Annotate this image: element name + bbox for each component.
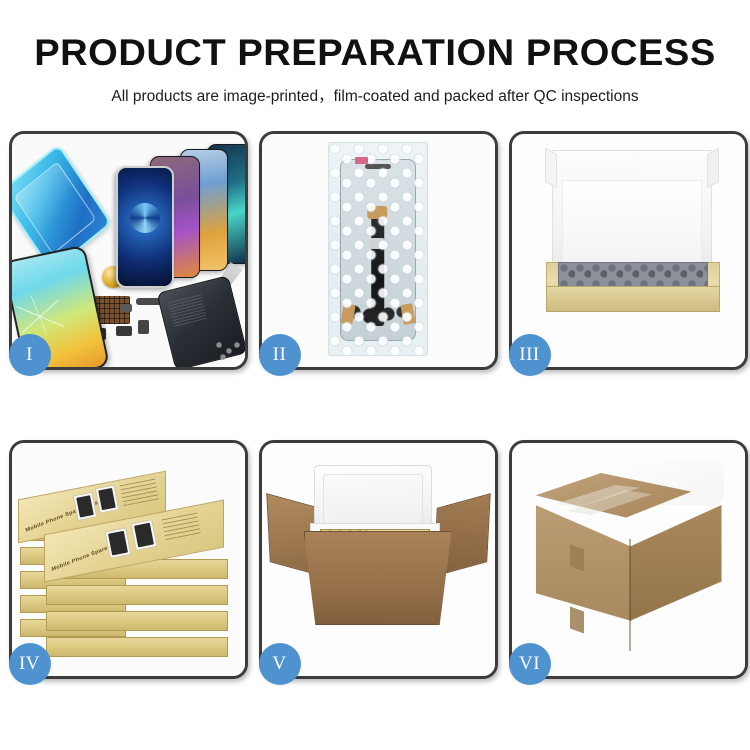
process-step-3: III — [509, 131, 748, 370]
page-subtitle: All products are image-printed，film-coat… — [0, 84, 750, 106]
product-preparation-infographic: PRODUCT PREPARATION PROCESS All products… — [0, 0, 750, 750]
step-badge-5: V — [259, 643, 301, 685]
box-checklist-1 — [119, 476, 159, 506]
mailer-box-front-panel — [546, 286, 720, 312]
retail-box-stack: Mobile Phone Spare Parts Mobile Phone Sp… — [16, 459, 238, 659]
process-step-1: I — [9, 131, 248, 370]
step-5-image — [262, 443, 495, 676]
step-3-image — [512, 134, 745, 367]
component-g — [116, 326, 132, 336]
component-h — [138, 320, 149, 334]
retail-box-r-2 — [46, 585, 228, 605]
step-badge-2: II — [259, 334, 301, 376]
component-j — [120, 304, 132, 312]
step-badge-4: IV — [9, 643, 51, 685]
box-phone-graphic-2 — [94, 484, 119, 513]
page-title: PRODUCT PREPARATION PROCESS — [0, 34, 750, 71]
step-2-image — [262, 134, 495, 367]
step-badge-6: VI — [509, 643, 551, 685]
step-1-image — [12, 134, 245, 367]
quality-tag — [355, 157, 368, 164]
carton-vertical-edge — [629, 539, 631, 651]
step-badge-3: III — [509, 334, 551, 376]
white-foam-sheet — [562, 180, 702, 264]
step-4-image: Mobile Phone Spare Parts Mobile Phone Sp… — [12, 443, 245, 676]
carton-seam-bottom — [570, 606, 584, 633]
step-6-image — [512, 443, 745, 676]
box-phone-graphic-3 — [104, 527, 131, 559]
process-step-5: V — [259, 440, 498, 679]
carton-right-face — [630, 505, 722, 621]
process-step-4: Mobile Phone Spare Parts Mobile Phone Sp… — [9, 440, 248, 679]
step-badge-1: I — [9, 334, 51, 376]
bubble-texture — [329, 143, 427, 355]
process-step-2: II — [259, 131, 498, 370]
process-step-grid: I II — [7, 131, 743, 673]
box-phone-graphic-1 — [72, 492, 97, 521]
retail-box-r-3 — [46, 611, 228, 631]
box-checklist-2 — [161, 510, 201, 540]
box-phone-graphic-4 — [130, 519, 157, 551]
header: PRODUCT PREPARATION PROCESS All products… — [0, 0, 750, 106]
process-step-6: VI — [509, 440, 748, 679]
phone-front-glass — [116, 166, 174, 288]
retail-box-r-4 — [46, 637, 228, 657]
screws-icon — [215, 341, 241, 361]
bubble-wrap-bag — [328, 142, 428, 356]
open-cardboard-carton — [304, 531, 452, 625]
